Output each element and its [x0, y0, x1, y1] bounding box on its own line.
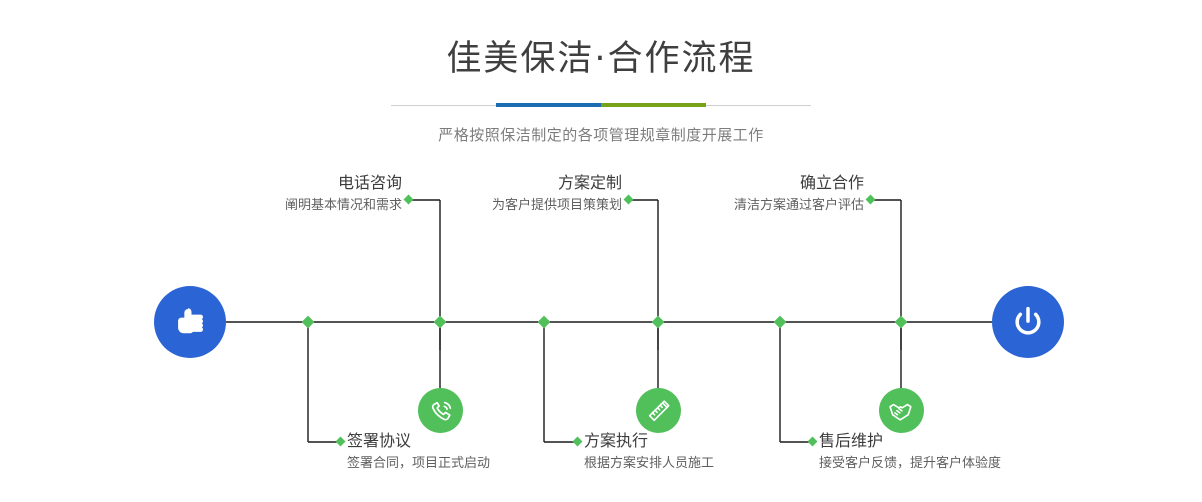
- step-label-5: 确立合作 清洁方案通过客户评估: [594, 173, 864, 216]
- step-node-handshake[interactable]: [879, 388, 924, 433]
- page-title: 佳美保洁·合作流程: [0, 42, 1202, 77]
- step-node-phone-call[interactable]: [418, 388, 463, 433]
- phone-call-icon: [428, 398, 454, 424]
- timeline-diagram: 电话咨询 阐明基本情况和需求 方案定制 为客户提供项目策策划 确立合作 清洁方案…: [0, 150, 1202, 502]
- step-node-plan-design[interactable]: [636, 388, 681, 433]
- power-icon: [1008, 302, 1048, 342]
- step-desc: 清洁方案通过客户评估: [594, 196, 864, 216]
- end-endpoint-power[interactable]: [992, 286, 1064, 358]
- ruler-pencil-icon: [646, 398, 672, 424]
- process-flow-infographic: 佳美保洁·合作流程 严格按照保洁制定的各项管理规章制度开展工作: [0, 0, 1202, 502]
- title-divider: [391, 101, 811, 111]
- step-title: 售后维护: [819, 431, 1139, 451]
- header: 佳美保洁·合作流程 严格按照保洁制定的各项管理规章制度开展工作: [0, 0, 1202, 145]
- step-desc: 为客户提供项目策策划: [352, 196, 622, 216]
- divider-green-segment: [601, 103, 706, 107]
- step-title: 确立合作: [594, 173, 864, 193]
- pointing-hand-icon: [170, 302, 210, 342]
- label-diamond-markers: [336, 195, 876, 447]
- step-label-3: 方案定制 为客户提供项目策策划: [352, 173, 622, 216]
- handshake-icon: [888, 397, 915, 424]
- divider-blue-segment: [496, 103, 601, 107]
- step-title: 方案定制: [352, 173, 622, 193]
- page-subtitle: 严格按照保洁制定的各项管理规章制度开展工作: [0, 124, 1202, 145]
- start-endpoint-pointing-hand[interactable]: [154, 286, 226, 358]
- step-label-6: 售后维护 接受客户反馈，提升客户体验度: [819, 431, 1139, 474]
- step-desc: 接受客户反馈，提升客户体验度: [819, 454, 1139, 474]
